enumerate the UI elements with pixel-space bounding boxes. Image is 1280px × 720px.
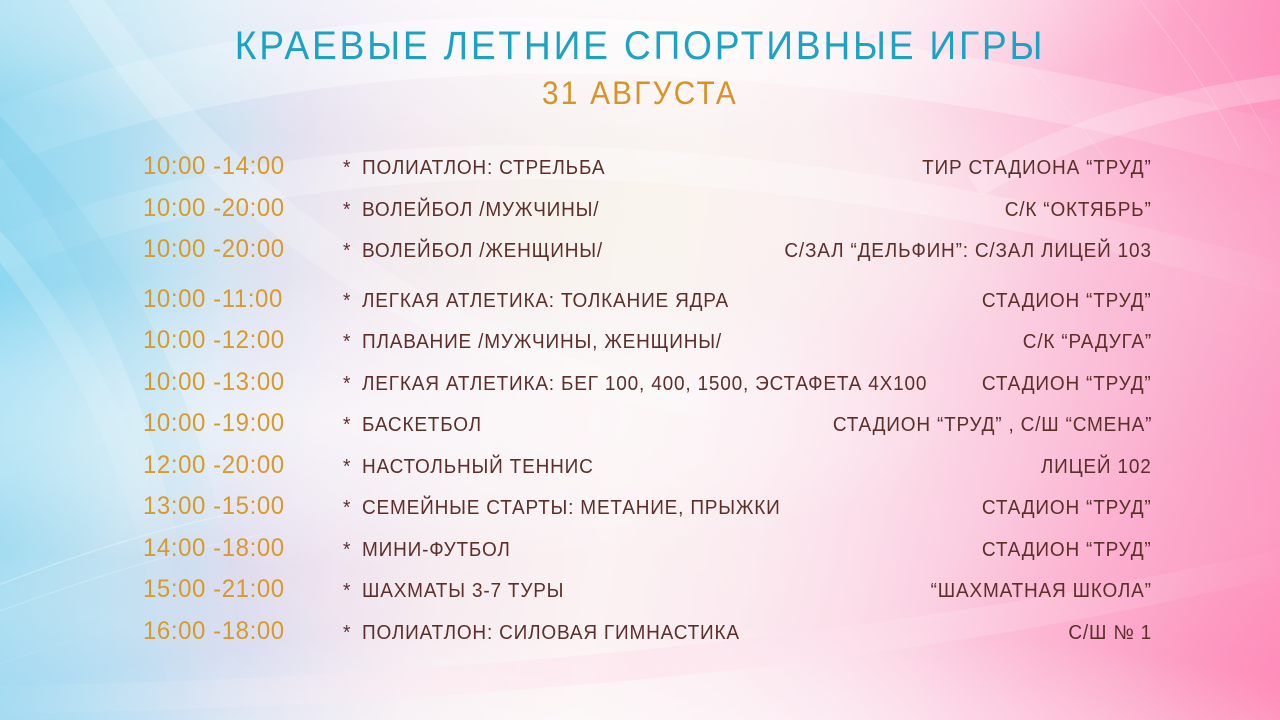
schedule-row-venue: С/Ш № 1 (1068, 622, 1152, 645)
schedule-row-event: *ЛЕГКАЯ АТЛЕТИКА: ТОЛКАНИЕ ЯДРА (343, 290, 942, 313)
asterisk-icon: * (343, 240, 362, 263)
schedule-row-event-label: СЕМЕЙНЫЕ СТАРТЫ: МЕТАНИЕ, ПРЫЖКИ (362, 497, 781, 519)
schedule-row-event: *МИНИ-ФУТБОЛ (343, 539, 942, 562)
asterisk-icon: * (343, 331, 362, 354)
asterisk-icon: * (343, 157, 362, 180)
schedule-row-time: 10:00 -20:00 (143, 235, 335, 264)
heading-block: КРАЕВЫЕ ЛЕТНИЕ СПОРТИВНЫЕ ИГРЫ 31 АВГУСТ… (0, 26, 1280, 109)
schedule-row-event: *ПОЛИАТЛОН: СИЛОВАЯ ГИМНАСТИКА (343, 622, 1028, 645)
schedule-row-venue: ЛИЦЕЙ 102 (1041, 456, 1152, 479)
schedule-row: 14:00 -18:00*МИНИ-ФУТБОЛСТАДИОН “ТРУД” (143, 534, 1152, 576)
schedule-row: 10:00 -13:00*ЛЕГКАЯ АТЛЕТИКА: БЕГ 100, 4… (143, 368, 1152, 410)
schedule-row-event-label: ВОЛЕЙБОЛ /ЖЕНЩИНЫ/ (362, 240, 603, 262)
schedule-row-event-label: МИНИ-ФУТБОЛ (362, 539, 511, 561)
schedule-row-event: *ПЛАВАНИЕ /МУЖЧИНЫ, ЖЕНЩИНЫ/ (343, 331, 982, 354)
schedule-row-event-label: ПОЛИАТЛОН: СИЛОВАЯ ГИМНАСТИКА (362, 622, 740, 644)
asterisk-icon: * (343, 580, 362, 603)
schedule-row: 16:00 -18:00*ПОЛИАТЛОН: СИЛОВАЯ ГИМНАСТИ… (143, 617, 1152, 659)
schedule-row: 10:00 -20:00*ВОЛЕЙБОЛ /ЖЕНЩИНЫ/С/ЗАЛ “ДЕ… (143, 235, 1152, 277)
schedule-row-event: *ВОЛЕЙБОЛ /ЖЕНЩИНЫ/ (343, 240, 744, 263)
schedule-row-venue: С/К “ОКТЯБРЬ” (1005, 199, 1152, 222)
schedule-row: 10:00 -11:00*ЛЕГКАЯ АТЛЕТИКА: ТОЛКАНИЕ Я… (143, 285, 1152, 327)
schedule-row-event-label: ЛЕГКАЯ АТЛЕТИКА: БЕГ 100, 400, 1500, ЭСТ… (362, 373, 927, 395)
schedule-row-venue: СТАДИОН “ТРУД” (982, 290, 1152, 313)
asterisk-icon: * (343, 414, 362, 437)
schedule-row-event: *ЛЕГКАЯ АТЛЕТИКА: БЕГ 100, 400, 1500, ЭС… (343, 373, 942, 396)
schedule-row-venue: “ШАХМАТНАЯ ШКОЛА” (931, 580, 1152, 603)
schedule-row: 15:00 -21:00*ШАХМАТЫ 3-7 ТУРЫ“ШАХМАТНАЯ … (143, 575, 1152, 617)
page-subtitle-date: 31 АВГУСТА (45, 77, 1235, 109)
schedule-row-venue: ТИР СТАДИОНА “ТРУД” (922, 157, 1152, 180)
schedule-row-time: 10:00 -14:00 (143, 152, 335, 181)
schedule-row: 10:00 -14:00*ПОЛИАТЛОН: СТРЕЛЬБАТИР СТАД… (143, 152, 1152, 194)
schedule-row: 10:00 -12:00*ПЛАВАНИЕ /МУЖЧИНЫ, ЖЕНЩИНЫ/… (143, 326, 1152, 368)
asterisk-icon: * (343, 290, 362, 313)
schedule-row-venue: СТАДИОН “ТРУД” (982, 497, 1152, 520)
schedule-row-time: 10:00 -13:00 (143, 368, 335, 397)
schedule-list: 10:00 -14:00*ПОЛИАТЛОН: СТРЕЛЬБАТИР СТАД… (143, 152, 1152, 658)
schedule-row-event: *СЕМЕЙНЫЕ СТАРТЫ: МЕТАНИЕ, ПРЫЖКИ (343, 497, 942, 520)
schedule-row-time: 14:00 -18:00 (143, 534, 335, 563)
schedule-row-event: *НАСТОЛЬНЫЙ ТЕННИС (343, 456, 1001, 479)
schedule-row-event: *ПОЛИАТЛОН: СТРЕЛЬБА (343, 157, 882, 180)
schedule-row-time: 12:00 -20:00 (143, 451, 335, 480)
schedule-row: 10:00 -20:00*ВОЛЕЙБОЛ /МУЖЧИНЫ/С/К “ОКТЯ… (143, 194, 1152, 236)
schedule-row: 13:00 -15:00*СЕМЕЙНЫЕ СТАРТЫ: МЕТАНИЕ, П… (143, 492, 1152, 534)
schedule-row-venue: СТАДИОН “ТРУД” (982, 539, 1152, 562)
asterisk-icon: * (343, 539, 362, 562)
schedule-row-event-label: ШАХМАТЫ 3-7 ТУРЫ (362, 580, 564, 602)
schedule-row-time: 10:00 -12:00 (143, 326, 335, 355)
schedule-row-venue: С/К “РАДУГА” (1023, 331, 1152, 354)
schedule-row-time: 13:00 -15:00 (143, 492, 335, 521)
schedule-row-event-label: ВОЛЕЙБОЛ /МУЖЧИНЫ/ (362, 199, 599, 221)
schedule-row-event-label: ПОЛИАТЛОН: СТРЕЛЬБА (362, 157, 605, 179)
asterisk-icon: * (343, 373, 362, 396)
schedule-row-venue: СТАДИОН “ТРУД” (982, 373, 1152, 396)
schedule-row-time: 10:00 -11:00 (143, 285, 335, 314)
asterisk-icon: * (343, 622, 362, 645)
schedule-row: 10:00 -19:00*БАСКЕТБОЛСТАДИОН “ТРУД” , С… (143, 409, 1152, 451)
schedule-row-event: *ВОЛЕЙБОЛ /МУЖЧИНЫ/ (343, 199, 965, 222)
schedule-row-venue: С/ЗАЛ “ДЕЛЬФИН”: С/ЗАЛ ЛИЦЕЙ 103 (785, 240, 1152, 263)
schedule-row-event: *БАСКЕТБОЛ (343, 414, 792, 437)
schedule-row-event-label: ПЛАВАНИЕ /МУЖЧИНЫ, ЖЕНЩИНЫ/ (362, 331, 722, 353)
schedule-row-venue: СТАДИОН “ТРУД” , С/Ш “СМЕНА” (833, 414, 1152, 437)
asterisk-icon: * (343, 497, 362, 520)
asterisk-icon: * (343, 199, 362, 222)
schedule-row-event-label: БАСКЕТБОЛ (362, 414, 482, 436)
schedule-row-event-label: ЛЕГКАЯ АТЛЕТИКА: ТОЛКАНИЕ ЯДРА (362, 290, 729, 312)
asterisk-icon: * (343, 456, 362, 479)
schedule-row-event: *ШАХМАТЫ 3-7 ТУРЫ (343, 580, 890, 603)
schedule-row-time: 10:00 -19:00 (143, 409, 335, 438)
schedule-row-time: 15:00 -21:00 (143, 575, 335, 604)
schedule-row-time: 16:00 -18:00 (143, 617, 335, 646)
poster-canvas: КРАЕВЫЕ ЛЕТНИЕ СПОРТИВНЫЕ ИГРЫ 31 АВГУСТ… (0, 0, 1280, 720)
schedule-row: 12:00 -20:00*НАСТОЛЬНЫЙ ТЕННИСЛИЦЕЙ 102 (143, 451, 1152, 493)
page-title: КРАЕВЫЕ ЛЕТНИЕ СПОРТИВНЫЕ ИГРЫ (45, 26, 1235, 66)
schedule-row-time: 10:00 -20:00 (143, 194, 335, 223)
schedule-row-event-label: НАСТОЛЬНЫЙ ТЕННИС (362, 456, 594, 478)
